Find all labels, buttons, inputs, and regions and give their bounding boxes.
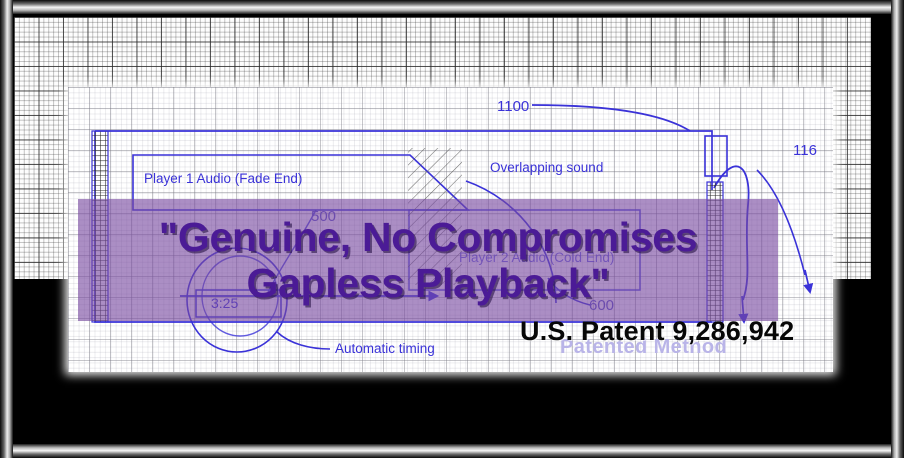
label-automatic-timing: Automatic timing <box>335 341 435 356</box>
screenshot-root: Player 1 Audio (Fade End) Player 2 Audio… <box>0 0 904 458</box>
frame-edge-right <box>891 0 904 458</box>
frame-edge-bottom <box>0 444 904 458</box>
label-overlapping-sound: Overlapping sound <box>490 160 603 175</box>
patent-number: U.S. Patent 9,286,942 <box>520 316 794 347</box>
headline-line-2: Gapless Playback" <box>246 260 609 307</box>
frame-edge-top <box>0 0 904 14</box>
ref-numeral-1100: 1100 <box>497 98 529 115</box>
label-player1-audio: Player 1 Audio (Fade End) <box>144 171 302 186</box>
ref-numeral-116: 116 <box>793 142 817 159</box>
frame-edge-left <box>0 0 13 458</box>
headline-line-1: "Genuine, No Compromises <box>159 214 698 261</box>
marketing-headline: "Genuine, No Compromises Gapless Playbac… <box>78 199 778 321</box>
